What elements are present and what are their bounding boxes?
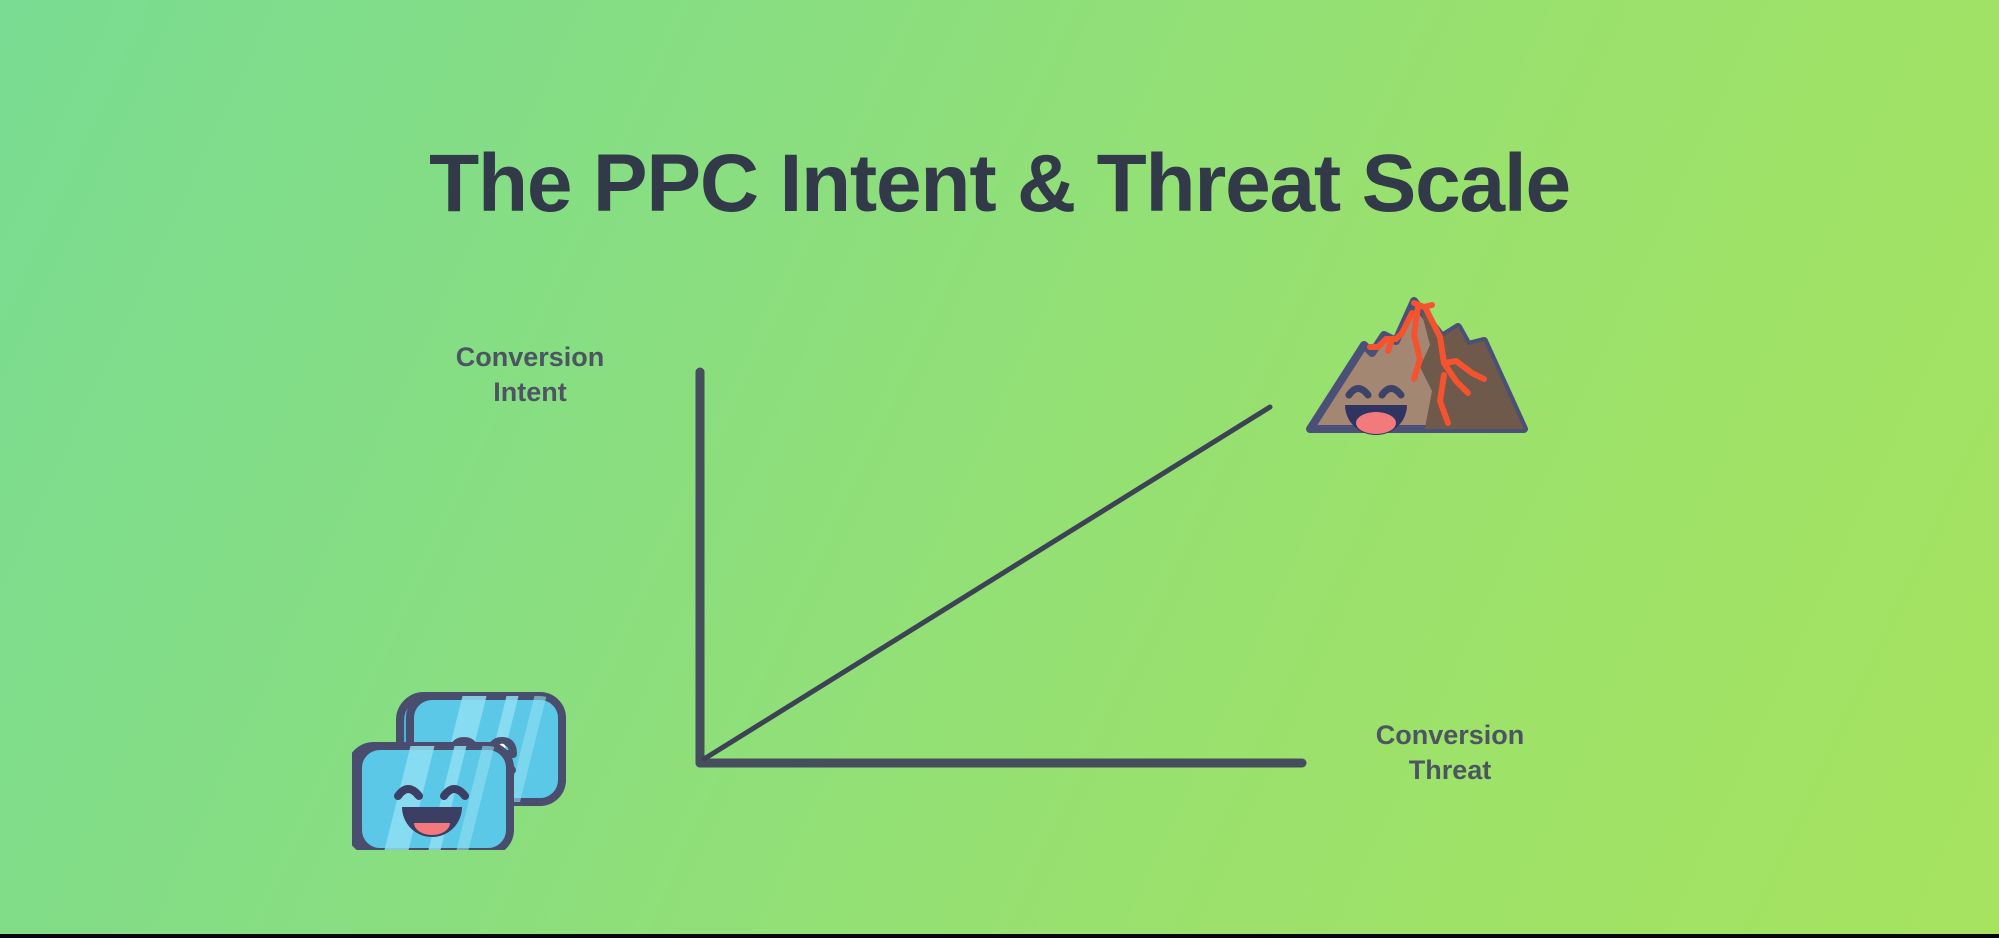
trend-line bbox=[704, 407, 1270, 759]
chart-axes-group bbox=[0, 0, 1999, 938]
bottom-edge-strip bbox=[0, 934, 1999, 938]
y-axis-label: Conversion Intent bbox=[410, 340, 650, 409]
infographic-canvas: The PPC Intent & Threat Scale Conversion… bbox=[0, 0, 1999, 938]
volcano-shadow-side bbox=[1418, 299, 1532, 433]
volcano-emoji bbox=[1292, 283, 1542, 443]
ice-cube-emoji bbox=[352, 690, 652, 850]
x-axis-label: Conversion Threat bbox=[1330, 718, 1570, 787]
ice-cube-front bbox=[352, 740, 510, 850]
